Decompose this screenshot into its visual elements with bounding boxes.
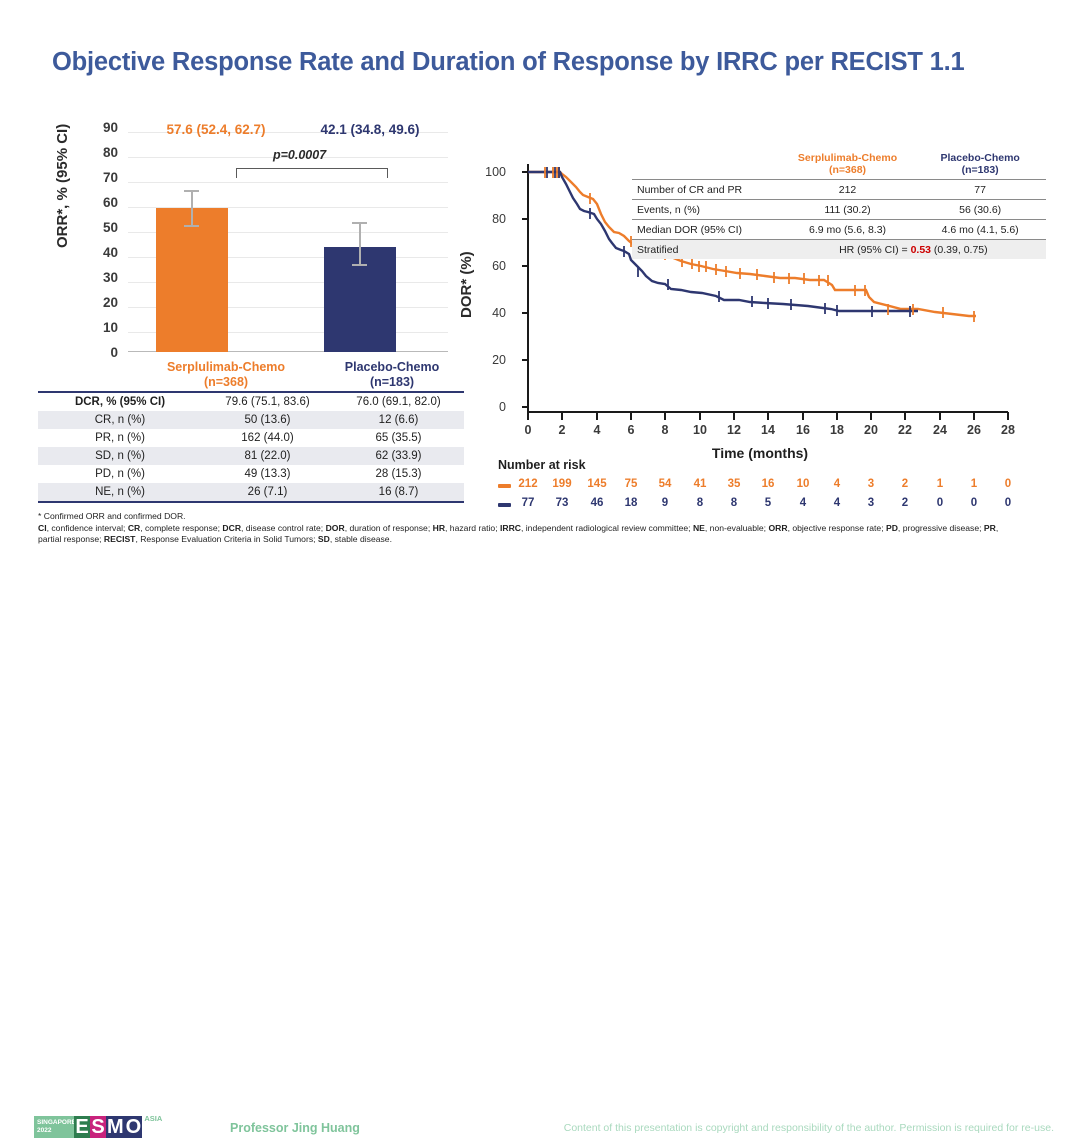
risk-cell: 41 [687,478,713,490]
y-tick: 80 [88,145,118,160]
footnote-asterisk: * Confirmed ORR and confirmed DOR. [38,511,1048,523]
legend-marker-placebo-icon [498,503,511,507]
risk-cell: 75 [618,478,644,490]
copyright-notice: Content of this presentation is copyrigh… [564,1122,1054,1134]
y-tick: 20 [88,295,118,310]
row-label: PD, n (%) [38,465,202,483]
risk-cell: 145 [584,478,610,490]
table-row: Median DOR (95% CI) 6.9 mo (5.6, 8.3) 4.… [632,220,1046,240]
footnote-abbrev-term: NE [693,523,705,533]
errorbar-cap-top [184,190,199,192]
y-tick: 30 [88,270,118,285]
header-serplulimab-n: (n=368) [785,164,911,176]
esmo-logo-city: SINGAPORE [37,1119,71,1127]
row-label: Median DOR (95% CI) [632,220,781,240]
significance-bracket [236,168,388,178]
esmo-logo-letter-s: S [90,1116,106,1138]
km-x-tick: 24 [929,423,951,437]
footnotes: * Confirmed ORR and confirmed DOR. CI, c… [38,511,1048,546]
footnote-abbrev-term: RECIST [104,534,136,544]
gridline [128,182,448,183]
risk-cell: 1 [961,478,987,490]
risk-cell: 77 [515,497,541,509]
km-x-tick: 12 [723,423,745,437]
footnote-abbrev-term: DOR [326,523,345,533]
row-value-placebo: 62 (33.9) [333,447,464,465]
risk-cell: 199 [549,478,575,490]
table-row: NE, n (%) 26 (7.1) 16 (8.7) [38,483,464,502]
p-value-label: p=0.0007 [273,148,326,162]
risk-cell: 1 [927,478,953,490]
header-spacer [632,150,781,180]
bar-category-placebo: Placebo-Chemo (n=183) [326,360,458,390]
km-x-tick: 4 [586,423,608,437]
row-label: Events, n (%) [632,200,781,220]
table-row: CR, n (%) 50 (13.6) 12 (6.6) [38,411,464,429]
km-x-tick: 20 [860,423,882,437]
dor-summary-table: Serplulimab-Chemo (n=368) Placebo-Chemo … [632,150,1046,259]
table-row: Number of CR and PR 212 77 [632,180,1046,200]
km-x-tick: 18 [826,423,848,437]
risk-cell: 2 [892,478,918,490]
y-tick: 60 [88,195,118,210]
esmo-logo-year: 2022 [37,1127,71,1135]
row-value-placebo: 16 (8.7) [333,483,464,502]
errorbar-serplulimab [191,191,193,226]
row-value-placebo: 4.6 mo (4.1, 5.6) [914,220,1046,240]
esmo-logo: SINGAPORE 2022 E S M O ASIA [34,1116,142,1138]
risk-cell: 10 [790,478,816,490]
bar-chart-plot-area: p=0.0007 57.6 (52.4, 62.7) 42.1 (34.8, 4… [128,126,448,352]
header-serplulimab: Serplulimab-Chemo (n=368) [781,150,915,180]
row-label: CR, n (%) [38,411,202,429]
risk-row-serplulimab: 212 199 145 75 54 41 35 16 10 4 3 2 1 1 … [498,478,1038,494]
footnote-abbrev-term: CR [128,523,140,533]
risk-cell: 0 [995,478,1021,490]
row-value-serplulimab: 111 (30.2) [781,200,915,220]
row-value-placebo: 65 (35.5) [333,429,464,447]
km-x-tick: 26 [963,423,985,437]
bar-category-serplulimab: Serplulimab-Chemo (n=368) [160,360,292,390]
hr-ci: (0.39, 0.75) [931,244,988,256]
row-value-serplulimab: 212 [781,180,915,200]
esmo-logo-city-block: SINGAPORE 2022 [34,1116,74,1138]
bar-category-label: Placebo-Chemo [326,360,458,375]
footnote-abbrev-term: IRRC [500,523,521,533]
y-tick: 90 [88,120,118,135]
orr-bar-chart: ORR*, % (95% CI) 90 80 70 60 50 40 30 20… [60,120,460,385]
risk-cell: 8 [687,497,713,509]
risk-cell: 4 [824,497,850,509]
row-value-serplulimab: 50 (13.6) [202,411,333,429]
page-title: Objective Response Rate and Duration of … [52,48,1032,77]
presenter-name: Professor Jing Huang [230,1121,360,1135]
risk-cell: 3 [858,497,884,509]
risk-cell: 46 [584,497,610,509]
risk-cell: 4 [824,478,850,490]
footnote-abbreviations: CI, confidence interval; CR, complete re… [38,523,1048,546]
table-row: PR, n (%) 162 (44.0) 65 (35.5) [38,429,464,447]
km-x-axis-label: Time (months) [520,445,1000,461]
row-value-serplulimab: 6.9 mo (5.6, 8.3) [781,220,915,240]
row-value-serplulimab: 79.6 (75.1, 83.6) [202,392,333,411]
esmo-logo-letters: E S M O ASIA [74,1116,142,1138]
hr-prefix: HR (95% CI) = [839,244,910,256]
km-x-tick: 14 [757,423,779,437]
footnote-abbrev-term: ORR [768,523,787,533]
table-row: Events, n (%) 111 (30.2) 56 (30.6) [632,200,1046,220]
row-label: Number of CR and PR [632,180,781,200]
y-tick: 0 [88,345,118,360]
bar-serplulimab [156,208,228,352]
header-serplulimab-name: Serplulimab-Chemo [785,152,911,164]
risk-cell: 5 [755,497,781,509]
bar-category-n: (n=183) [326,375,458,390]
row-label: NE, n (%) [38,483,202,502]
esmo-logo-asia: ASIA [144,1114,162,1123]
footnote-abbrev-term: CI [38,523,47,533]
row-value-placebo: 12 (6.6) [333,411,464,429]
risk-cell: 9 [652,497,678,509]
bar-value-serplulimab: 57.6 (52.4, 62.7) [126,122,306,137]
row-label: PR, n (%) [38,429,202,447]
y-tick: 40 [88,245,118,260]
legend-marker-serplulimab-icon [498,484,511,488]
km-x-tick: 6 [620,423,642,437]
row-label: SD, n (%) [38,447,202,465]
row-value-serplulimab: 162 (44.0) [202,429,333,447]
table-header-row: Serplulimab-Chemo (n=368) Placebo-Chemo … [632,150,1046,180]
risk-cell: 73 [549,497,575,509]
row-value-placebo: 77 [914,180,1046,200]
row-label-stratified: Stratified [632,240,781,260]
risk-cell: 3 [858,478,884,490]
footnote-abbrev-term: SD [318,534,330,544]
y-tick: 70 [88,170,118,185]
risk-cell: 35 [721,478,747,490]
y-tick: 10 [88,320,118,335]
row-label: DCR, % (95% CI) [38,392,202,411]
footnote-abbrev-line: CI, confidence interval; CR, complete re… [38,523,1048,535]
km-x-tick: 22 [894,423,916,437]
esmo-logo-letter-e: E [74,1116,90,1138]
number-at-risk-title: Number at risk [498,458,586,472]
row-value-serplulimab: 81 (22.0) [202,447,333,465]
km-x-tick: 8 [654,423,676,437]
row-value-serplulimab: 49 (13.3) [202,465,333,483]
table-row-stratified: Stratified HR (95% CI) = 0.53 (0.39, 0.7… [632,240,1046,260]
km-x-tick: 10 [689,423,711,437]
risk-cell: 8 [721,497,747,509]
response-rate-table: DCR, % (95% CI) 79.6 (75.1, 83.6) 76.0 (… [38,391,464,503]
risk-cell: 4 [790,497,816,509]
km-x-tick: 2 [551,423,573,437]
km-x-tick: 16 [792,423,814,437]
hr-value: 0.53 [911,244,931,256]
risk-cell: 16 [755,478,781,490]
slide-root: Objective Response Rate and Duration of … [0,0,1080,608]
bar-category-label: Serplulimab-Chemo [160,360,292,375]
km-x-tick: 28 [997,423,1019,437]
risk-cell: 18 [618,497,644,509]
errorbar-cap-top [352,222,367,224]
risk-cell: 0 [927,497,953,509]
errorbar-cap-bottom [352,264,367,266]
table-row: DCR, % (95% CI) 79.6 (75.1, 83.6) 76.0 (… [38,392,464,411]
header-placebo-name: Placebo-Chemo [918,152,1042,164]
footnote-abbrev-term: PD [886,523,898,533]
row-value-placebo: 28 (15.3) [333,465,464,483]
y-tick: 50 [88,220,118,235]
footnote-abbrev-line: partial response; RECIST, Response Evalu… [38,534,1048,546]
header-placebo: Placebo-Chemo (n=183) [914,150,1046,180]
esmo-logo-letter-m: M [106,1116,125,1138]
footnote-abbrev-term: DCR [222,523,241,533]
row-value-placebo: 76.0 (69.1, 82.0) [333,392,464,411]
bar-chart-y-axis-label: ORR*, % (95% CI) [54,124,71,248]
footnote-abbrev-term: HR [433,523,445,533]
bar-value-placebo: 42.1 (34.8, 49.6) [280,122,460,137]
errorbar-cap-bottom [184,225,199,227]
row-value-serplulimab: 26 (7.1) [202,483,333,502]
risk-cell: 212 [515,478,541,490]
bar-category-n: (n=368) [160,375,292,390]
esmo-logo-letter-o: O [125,1116,143,1138]
table-row: PD, n (%) 49 (13.3) 28 (15.3) [38,465,464,483]
errorbar-placebo [359,223,361,265]
risk-cell: 54 [652,478,678,490]
hazard-ratio-cell: HR (95% CI) = 0.53 (0.39, 0.75) [781,240,1046,260]
header-placebo-n: (n=183) [918,164,1042,176]
km-x-tick: 0 [517,423,539,437]
row-value-placebo: 56 (30.6) [914,200,1046,220]
table-row: SD, n (%) 81 (22.0) 62 (33.9) [38,447,464,465]
risk-cell: 0 [995,497,1021,509]
risk-cell: 0 [961,497,987,509]
bar-chart-y-ticks: 90 80 70 60 50 40 30 20 10 0 [88,120,118,352]
slide-footer: SINGAPORE 2022 E S M O ASIA Professor Ji… [0,556,1080,608]
risk-cell: 2 [892,497,918,509]
footnote-abbrev-term: PR [984,523,996,533]
